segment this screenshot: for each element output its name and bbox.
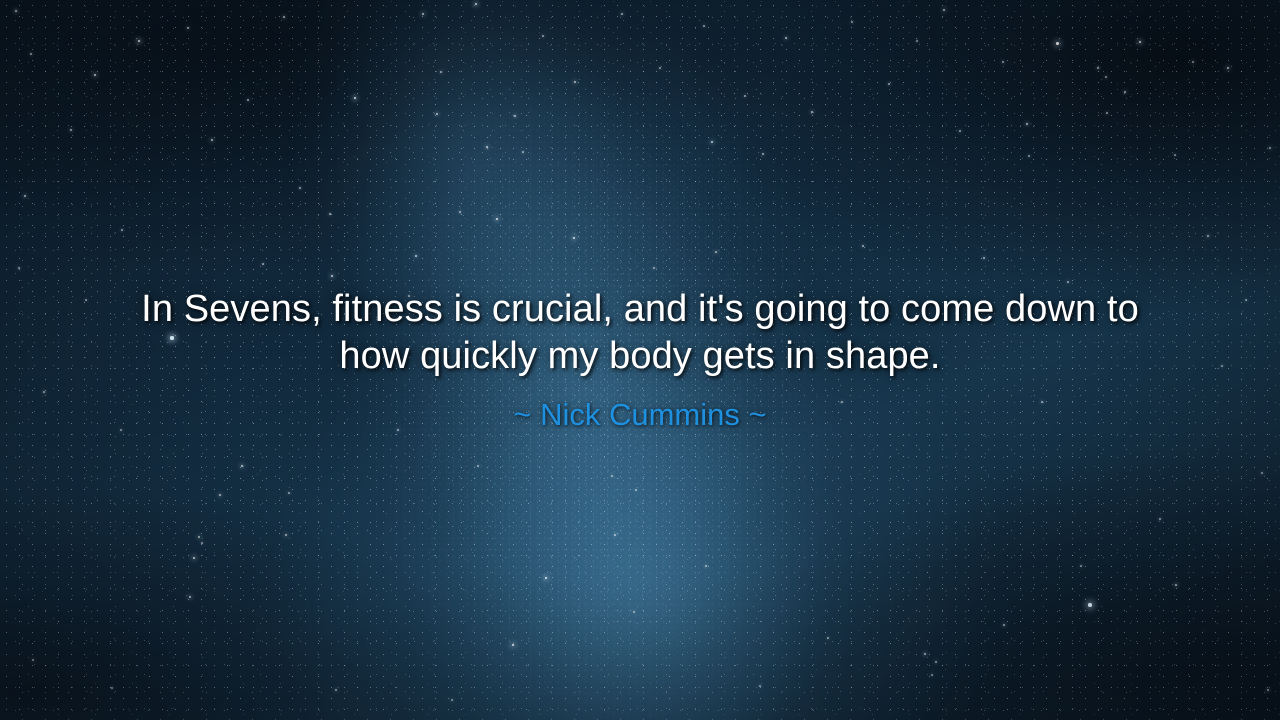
quote-block: In Sevens, fitness is crucial, and it's … [0,286,1280,434]
quote-attribution: ~ Nick Cummins ~ [40,396,1240,434]
quote-text: In Sevens, fitness is crucial, and it's … [40,286,1240,380]
quote-card: In Sevens, fitness is crucial, and it's … [0,0,1280,720]
